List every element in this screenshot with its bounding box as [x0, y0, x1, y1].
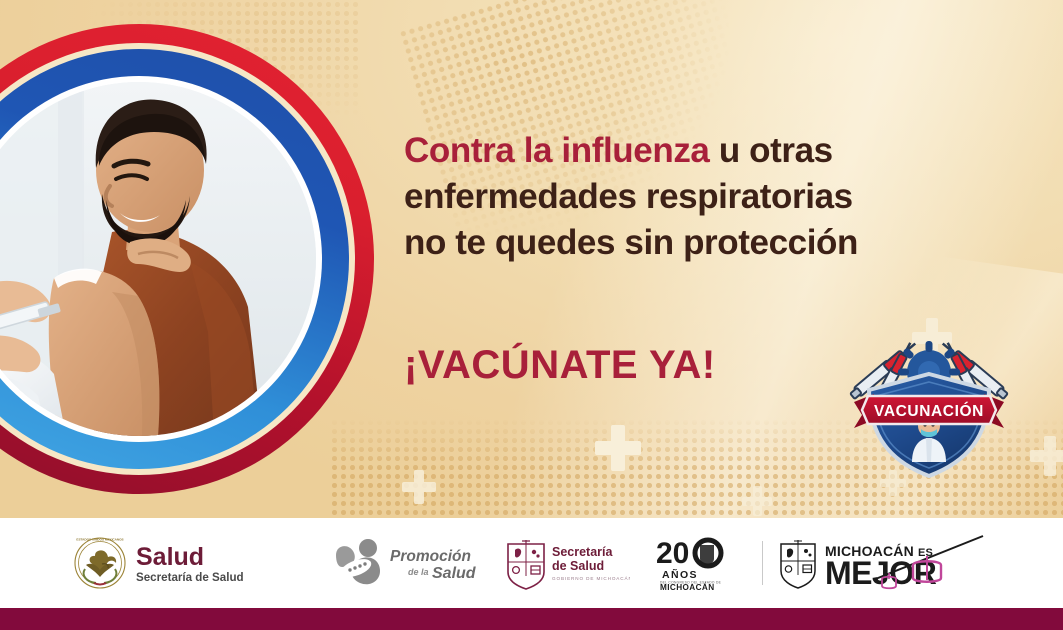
svg-text:ESTADOS UNIDOS MEXICANOS: ESTADOS UNIDOS MEXICANOS: [76, 538, 123, 542]
logo-ssm-title: Secretaría: [552, 545, 614, 559]
headline: Contra la influenza u otras enfermedades…: [404, 128, 1004, 266]
cross-icon: [1030, 436, 1063, 476]
logo-salud-title: Salud: [136, 543, 204, 571]
cross-icon: [742, 486, 772, 516]
badge-banner-label: VACUNACIÓN: [874, 402, 984, 420]
logo-salud-subtitle: Secretaría de Salud: [136, 571, 244, 584]
cross-icon: [595, 425, 641, 471]
escudo-de-michoacan-icon: [508, 540, 544, 589]
escudo-de-michoacan-icon: [781, 540, 815, 588]
headline-line-1-red: Contra la influenza: [404, 131, 710, 170]
headline-line-2: enfermedades respiratorias: [404, 174, 1004, 220]
headline-line-3: no te quedes sin protección: [404, 220, 1004, 266]
call-to-action-text: ¡VACÚNATE YA!: [404, 343, 716, 388]
photo-circle-frame: [0, 24, 374, 494]
headline-line-1-dark: u otras: [710, 131, 833, 170]
logo-secretaria-de-salud-michoacan: Secretaría de Salud GOBIERNO DE MICHOACÁ…: [502, 534, 630, 592]
logo-michoacan-es-mejor: MICHOACÁN ES MEJOR: [777, 534, 993, 592]
logo-200-anos-michoacan: 20 AÑOS DEL CONGRESO DEL ESTADO DE MICHO…: [652, 534, 730, 592]
cross-icon: [402, 470, 436, 504]
promocion-figures-icon: [336, 539, 380, 584]
logo-ssm-subtitle: de Salud: [552, 559, 604, 573]
vaccination-campaign-poster: Contra la influenza u otras enfermedades…: [0, 0, 1063, 630]
logo-200-subtitle: MICHOACÁN: [660, 582, 715, 591]
logo-promocion-caption: de la: [408, 567, 429, 577]
logo-200-number: 20: [656, 537, 689, 570]
bottom-accent-bar: [0, 608, 1063, 630]
logo-200-title: AÑOS: [662, 568, 698, 581]
vacunacion-badge: VACUNACIÓN: [846, 334, 1012, 484]
logo-divider: [762, 541, 763, 585]
logo-salud-secretaria-de-salud: ESTADOS UNIDOS MEXICANOS Salud Secretarí…: [70, 534, 298, 592]
footer-logo-bar: ESTADOS UNIDOS MEXICANOS Salud Secretarí…: [0, 518, 1063, 608]
logo-ssm-caption: GOBIERNO DE MICHOACÁN: [552, 575, 630, 581]
logo-promocion-de-la-salud: Promoción de la Salud: [326, 534, 476, 592]
hero-banner: Contra la influenza u otras enfermedades…: [0, 0, 1063, 518]
headline-line-1: Contra la influenza u otras: [404, 128, 1004, 174]
escudo-nacional-mexicano-icon: ESTADOS UNIDOS MEXICANOS: [75, 538, 125, 588]
logo-promocion-subtitle: Salud: [432, 565, 476, 582]
logo-promocion-title: Promoción: [390, 548, 471, 565]
